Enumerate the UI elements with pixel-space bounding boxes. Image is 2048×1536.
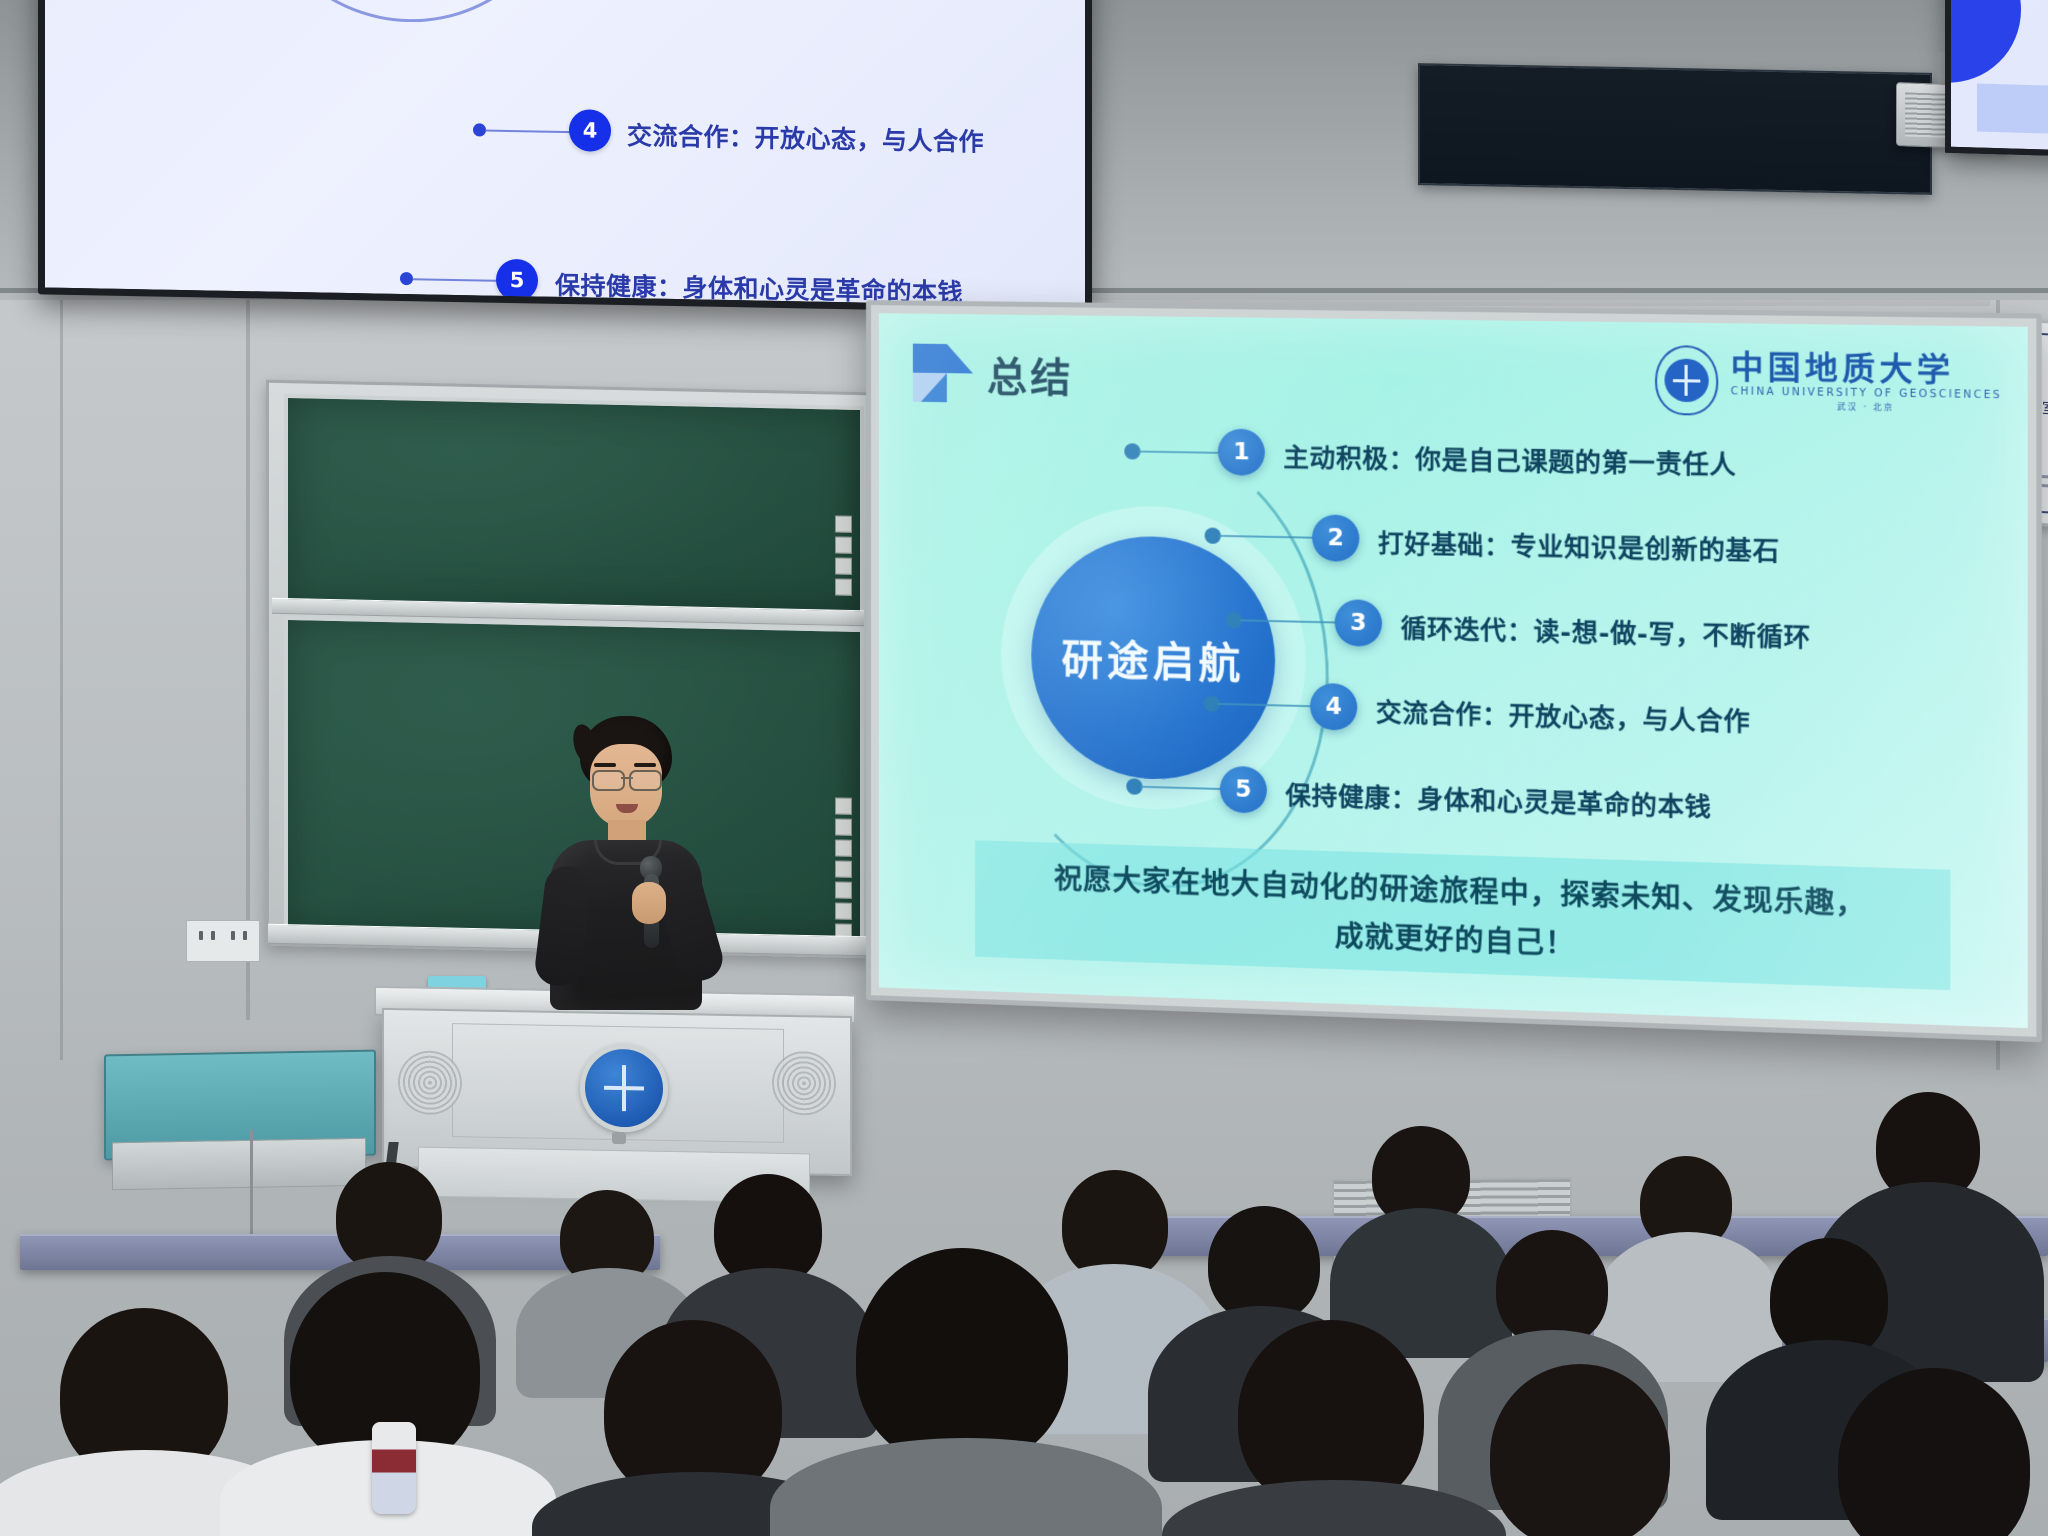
item-text-4: 交流合作：开放心态，与人合作	[1376, 693, 1751, 739]
wall-seam-far-left	[60, 300, 63, 1060]
chevron-right-icon	[913, 344, 973, 403]
audience-head	[1208, 1206, 1320, 1322]
university-logo: 中国地质大学 CHINA UNIVERSITY OF GEOSCIENCES 武…	[1655, 345, 2002, 420]
overhead-monitor-screen: 4 交流合作：开放心态，与人合作 5 保持健康：身体和心灵是革命的本钱 祝愿大家…	[45, 0, 1085, 307]
overhead-arc	[241, 0, 577, 25]
audience-head	[1496, 1230, 1608, 1346]
presenter-brow-left	[594, 763, 616, 767]
screenshot-root: 4 交流合作：开放心态，与人合作 5 保持健康：身体和心灵是革命的本钱 祝愿大家…	[0, 0, 2048, 1536]
overhead-item-text-4: 交流合作：开放心态，与人合作	[627, 116, 984, 159]
overhead-number-4: 4	[569, 109, 611, 152]
projection-screen-frame: 总结 中国地质大学 CHINA UNIVERSITY OF GEOSCIENCE…	[866, 300, 2042, 1042]
overhead-monitor-secondary-screen	[1951, 0, 2048, 155]
glasses-icon	[590, 770, 664, 787]
item-text-5: 保持健康：身体和心灵是革命的本钱	[1285, 776, 1711, 825]
wall-seam-left	[246, 260, 250, 1020]
item-text-2: 打好基础：专业知识是创新的基石	[1378, 524, 1780, 569]
item-text-3: 循环迭代：读-想-做-写，不断循环	[1401, 609, 1811, 655]
number-badge-4: 4	[1310, 683, 1357, 731]
university-name-en: CHINA UNIVERSITY OF GEOSCIENCES	[1731, 386, 2002, 401]
overhead-monitor-secondary	[1945, 0, 2048, 161]
presenter-hand	[632, 882, 666, 924]
overhead-number-5: 5	[496, 259, 538, 302]
wall-banner	[1418, 63, 1932, 195]
number-badge-2: 2	[1312, 514, 1359, 562]
overhead-monitor: 4 交流合作：开放心态，与人合作 5 保持健康：身体和心灵是革命的本钱 祝愿大家…	[38, 0, 1092, 314]
blackboard-lower-icon-strip	[835, 797, 852, 940]
university-emblem-icon	[1655, 345, 1718, 416]
audience-body	[770, 1438, 1162, 1536]
presenter-brow-right	[634, 763, 656, 767]
item-text-1: 主动积极：你是自己课题的第一责任人	[1283, 438, 1736, 482]
closing-line-1: 祝愿大家在地大自动化的研途旅程中，探索未知、发现乐趣，	[1054, 857, 1866, 923]
university-campus-sub: 武汉 · 北京	[1731, 399, 2002, 414]
slide-title: 总结	[987, 345, 1074, 405]
number-badge-5: 5	[1220, 766, 1267, 814]
overhead-secondary-core	[1945, 0, 2021, 85]
presenter	[534, 716, 714, 1006]
number-badge-1: 1	[1218, 429, 1265, 476]
audience-head	[856, 1248, 1068, 1466]
blackboard-upper	[284, 394, 864, 616]
blackboard-upper-icon-strip	[835, 515, 852, 595]
audience-head	[1490, 1364, 1670, 1536]
wall-outlet[interactable]	[186, 920, 260, 962]
presentation-slide: 总结 中国地质大学 CHINA UNIVERSITY OF GEOSCIENCE…	[879, 313, 2028, 1028]
audience	[0, 1020, 2048, 1536]
university-name-cn: 中国地质大学	[1731, 352, 2002, 388]
overhead-secondary-band	[1977, 84, 2048, 139]
closing-line-2: 成就更好的自己！	[1335, 914, 1576, 963]
number-badge-3: 3	[1335, 599, 1382, 647]
water-bottle[interactable]	[372, 1422, 416, 1514]
closing-message-band: 祝愿大家在地大自动化的研途旅程中，探索未知、发现乐趣， 成就更好的自己！	[975, 840, 1950, 990]
timeline-arc	[970, 431, 1344, 895]
